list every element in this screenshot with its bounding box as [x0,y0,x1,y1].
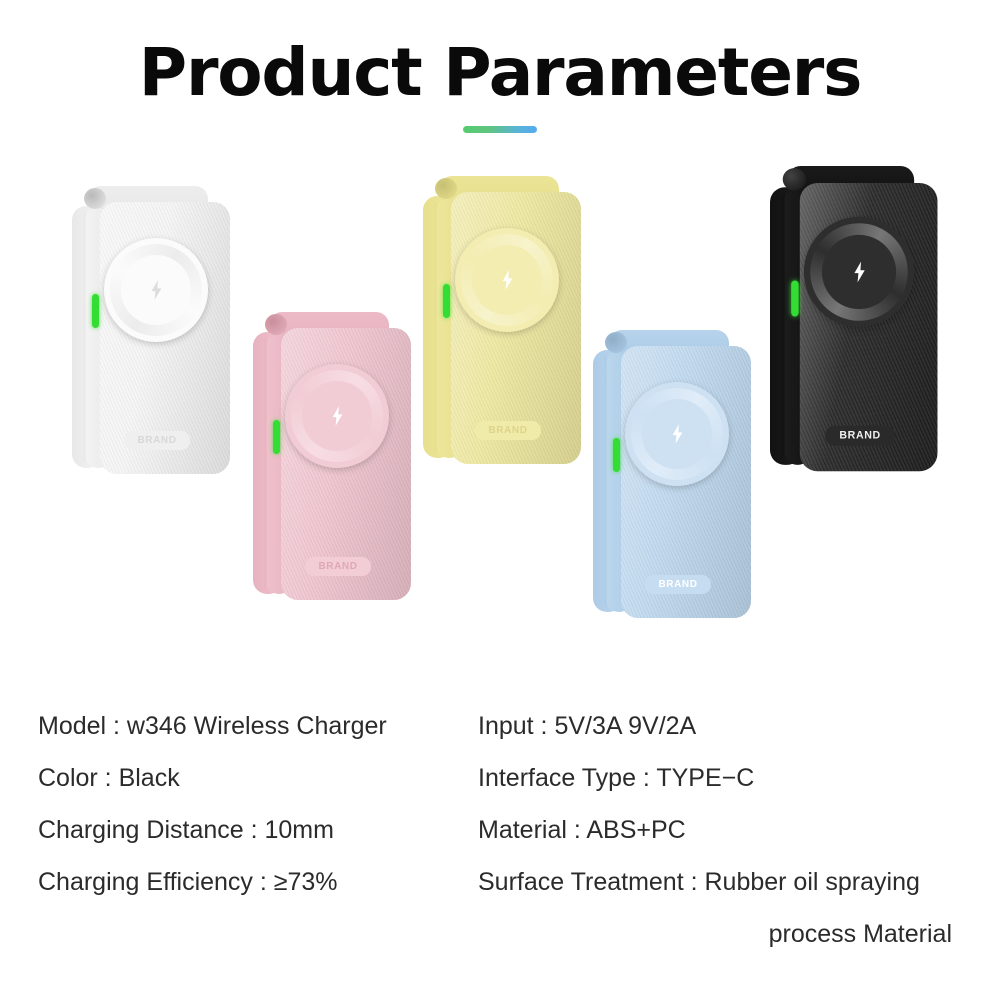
charging-led-indicator [92,294,99,328]
pad-center [472,245,542,315]
wireless-charging-pad [804,217,914,327]
wireless-charging-pad [285,364,389,468]
brand-badge: BRAND [305,557,371,576]
spec-charging-distance: Charging Distance : 10mm [38,804,468,856]
black-power-bank: BRAND [770,166,940,473]
brand-badge: BRAND [645,575,711,594]
wireless-charging-pad [104,238,208,342]
charging-led-indicator [791,280,798,316]
yellow-power-bank: BRAND [423,176,583,466]
spec-surface-treatment: Surface Treatment : Rubber oil spraying [478,856,978,908]
product-parameters-page: Product Parameters BRANDBRANDBRANDBRANDB… [0,0,1000,1000]
specs-left-column: Model : w346 Wireless Charger Color : Bl… [38,700,468,908]
product-gallery: BRANDBRANDBRANDBRANDBRAND [0,0,1000,690]
wireless-charging-pad [455,228,559,332]
spec-charging-efficiency: Charging Efficiency : ≥73% [38,856,468,908]
spec-material: Material : ABS+PC [478,804,978,856]
spec-model: Model : w346 Wireless Charger [38,700,468,752]
spec-color: Color : Black [38,752,468,804]
pad-center [642,399,712,469]
seam-line [434,202,437,452]
charging-led-indicator [613,438,620,472]
charging-led-indicator [273,420,280,454]
seam-line [604,356,607,606]
specs-section: Model : w346 Wireless Charger Color : Bl… [0,700,1000,1000]
wireless-charging-pad [625,382,729,486]
specs-right-column: Input : 5V/3A 9V/2A Interface Type : TYP… [478,700,978,960]
seam-line [264,338,267,588]
pad-center [822,235,896,309]
brand-badge: BRAND [475,421,541,440]
pink-power-bank: BRAND [253,312,413,602]
seam-line [83,212,86,462]
pad-center [302,381,372,451]
blue-power-bank: BRAND [593,330,753,620]
charging-led-indicator [443,284,450,318]
white-power-bank: BRAND [72,186,232,476]
pad-center [121,255,191,325]
seam-line [782,194,785,459]
brand-badge: BRAND [825,426,895,446]
brand-badge: BRAND [124,431,190,450]
spec-input: Input : 5V/3A 9V/2A [478,700,978,752]
spec-interface-type: Interface Type : TYPE−C [478,752,978,804]
spec-surface-treatment-continuation: process Material [478,908,978,960]
